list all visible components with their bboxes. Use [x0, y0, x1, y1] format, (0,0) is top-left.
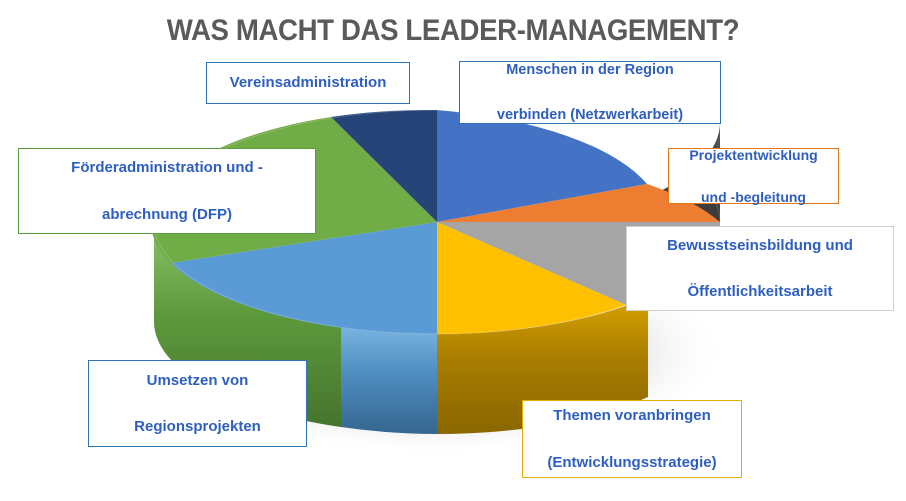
callout-projektentwicklung[interactable]: Projektentwicklung und -begleitung: [668, 148, 839, 204]
callout-menschen-line1: Menschen in der Region: [468, 59, 712, 81]
callout-bewusstseinsbildung-line1: Bewusstseinsbildung und: [635, 234, 885, 257]
callout-menschen-line2: verbinden (Netzwerkarbeit): [468, 104, 712, 126]
callout-foerderadministration-line2: abrechnung (DFP): [27, 203, 307, 226]
callout-bewusstseinsbildung-lines: Bewusstseinsbildung und Öffentlichkeitsa…: [635, 234, 885, 304]
callout-vereinsadministration-text: Vereinsadministration: [215, 71, 401, 94]
callout-projektentwicklung-line1: Projektentwicklung: [677, 145, 830, 166]
callout-menschen-in-der-region[interactable]: Menschen in der Region verbinden (Netzwe…: [459, 61, 721, 124]
pie-side-lightblue: [341, 327, 437, 434]
callout-umsetzen-line1: Umsetzen von: [97, 369, 298, 392]
callout-themen-lines: Themen voranbringen (Entwicklungsstrateg…: [531, 404, 733, 474]
callout-bewusstseinsbildung[interactable]: Bewusstseinsbildung und Öffentlichkeitsa…: [626, 226, 894, 311]
callout-foerderadministration-line1: Förderadministration und -: [27, 156, 307, 179]
callout-menschen-lines: Menschen in der Region verbinden (Netzwe…: [468, 59, 712, 126]
callout-umsetzen-regionsprojekte[interactable]: Umsetzen von Regionsprojekten: [88, 360, 307, 447]
callout-foerderadministration[interactable]: Förderadministration und - abrechnung (D…: [18, 148, 316, 234]
slide-canvas: WAS MACHT DAS LEADER-MANAGEMENT?: [0, 0, 906, 501]
callout-foerderadministration-lines: Förderadministration und - abrechnung (D…: [27, 156, 307, 226]
callout-bewusstseinsbildung-line2: Öffentlichkeitsarbeit: [635, 280, 885, 303]
callout-umsetzen-lines: Umsetzen von Regionsprojekten: [97, 369, 298, 439]
callout-vereinsadministration[interactable]: Vereinsadministration: [206, 62, 410, 104]
callout-umsetzen-line2: Regionsprojekten: [97, 415, 298, 438]
callout-projektentwicklung-lines: Projektentwicklung und -begleitung: [677, 145, 830, 208]
callout-projektentwicklung-line2: und -begleitung: [677, 187, 830, 208]
callout-themen-line1: Themen voranbringen: [531, 404, 733, 427]
callout-themen-line2: (Entwicklungsstrategie): [531, 451, 733, 474]
callout-themen-voranbringen[interactable]: Themen voranbringen (Entwicklungsstrateg…: [522, 400, 742, 478]
